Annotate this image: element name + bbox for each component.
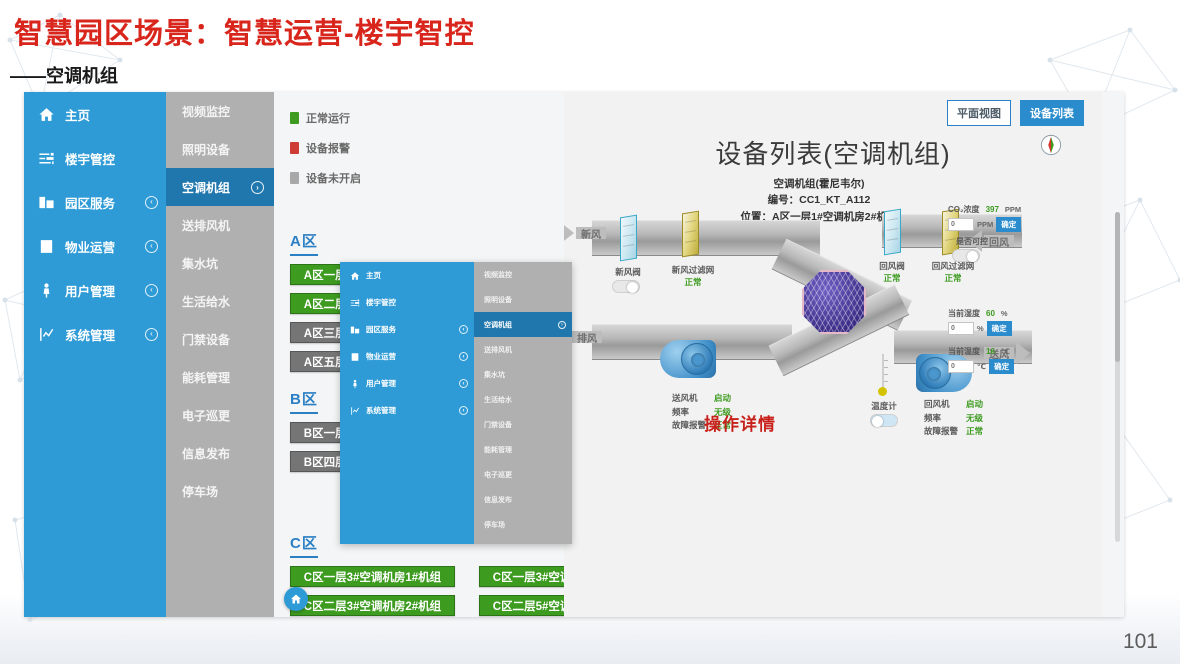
inner-subnav-item-8[interactable]: 电子巡更	[474, 462, 572, 487]
book-icon	[350, 352, 360, 362]
subnav-item-4[interactable]: 集水坑	[166, 244, 274, 282]
temperature-value: 16	[986, 347, 995, 356]
co2-input[interactable]: 0	[948, 218, 974, 231]
arrow-label: 新风	[576, 227, 606, 239]
view-toggle-group: 平面视图 设备列表	[947, 100, 1084, 126]
temperature-input-unit: ℃	[977, 362, 986, 371]
subnav-item-8[interactable]: 电子巡更	[166, 396, 274, 434]
inner-subnav-item-3[interactable]: 送排风机	[474, 337, 572, 362]
chevron-right-icon[interactable]: ›	[251, 181, 264, 194]
status-value: 启动	[966, 398, 983, 412]
device-code: 编号：CC1_KT_A112	[654, 192, 984, 208]
subnav-item-label: 信息发布	[182, 445, 230, 462]
subnav-item-2[interactable]: 空调机组›	[166, 168, 274, 206]
subnav-item-label: 停车场	[182, 483, 218, 500]
fresh-air-filter[interactable]	[682, 211, 699, 258]
inner-sidebar-item-label: 园区服务	[366, 324, 453, 335]
sidebar-item-0[interactable]: 主页	[24, 92, 166, 136]
inner-screenshot-overlay: 主页楼宇管控园区服务‹物业运营‹用户管理‹系统管理‹ 视频监控照明设备空调机组›…	[340, 262, 572, 544]
inner-primary-sidebar: 主页楼宇管控园区服务‹物业运营‹用户管理‹系统管理‹	[340, 262, 474, 544]
status-legend: 正常运行设备报警设备未开启	[290, 110, 361, 200]
humidity-input-unit: %	[977, 324, 984, 333]
inner-subnav-item-label: 信息发布	[484, 495, 512, 505]
subnav-item-label: 照明设备	[182, 141, 230, 158]
home-icon	[290, 593, 302, 605]
zone-title: C区	[290, 532, 318, 558]
sliders-icon	[38, 150, 55, 167]
inner-sidebar-item-4[interactable]: 用户管理‹	[340, 370, 474, 397]
status-label: 故障报警	[924, 425, 958, 439]
inner-subnav-item-label: 照明设备	[484, 295, 512, 305]
sliders-icon	[350, 298, 360, 308]
subnav-item-label: 集水坑	[182, 255, 218, 272]
co2-readout: CO₂浓度 397 PPM	[948, 204, 1021, 215]
controllable-toggle[interactable]	[952, 249, 980, 262]
subnav-item-7[interactable]: 能耗管理	[166, 358, 274, 396]
thermometer-label: 温度计	[864, 400, 904, 412]
humidity-readout: 当前湿度 60 %	[948, 308, 1012, 319]
inner-subnav-item-9[interactable]: 信息发布	[474, 487, 572, 512]
subnav-item-label: 视频监控	[182, 103, 230, 120]
temperature-unit: ℃	[1001, 347, 1010, 356]
chevron-left-icon[interactable]: ‹	[459, 406, 468, 415]
status-label: 频率	[924, 412, 958, 426]
inner-subnav-item-4[interactable]: 集水坑	[474, 362, 572, 387]
status-value: 正常	[966, 425, 983, 439]
humidity-setpoint-row: 0 % 确定	[948, 321, 1012, 336]
chevron-left-icon[interactable]: ‹	[145, 328, 158, 341]
status-label: 频率	[672, 406, 706, 420]
person-icon	[350, 379, 360, 389]
thermometer-tick	[884, 374, 888, 375]
status-label: 送风机	[672, 392, 706, 406]
chevron-left-icon[interactable]: ‹	[145, 284, 158, 297]
inner-subnav-item-2[interactable]: 空调机组›	[474, 312, 572, 337]
fan-hub	[919, 357, 951, 389]
inner-sidebar-item-3[interactable]: 物业运营‹	[340, 343, 474, 370]
inner-subnav-item-0[interactable]: 视频监控	[474, 262, 572, 287]
thermometer-tick	[884, 367, 888, 368]
chart-icon	[38, 326, 55, 343]
co2-input-unit: PPM	[977, 220, 993, 229]
chevron-left-icon[interactable]: ‹	[459, 352, 468, 361]
legend-row-2: 设备未开启	[290, 170, 361, 186]
subnav-item-10[interactable]: 停车场	[166, 472, 274, 510]
subnav-item-label: 送排风机	[182, 217, 230, 234]
thermometer-bulb	[878, 387, 887, 396]
inner-subnav-item-6[interactable]: 门禁设备	[474, 412, 572, 437]
sidebar-item-label: 主页	[65, 105, 158, 124]
sidebar-item-3[interactable]: 物业运营‹	[24, 224, 166, 268]
chart-icon	[350, 406, 360, 416]
sidebar-item-label: 系统管理	[65, 325, 135, 344]
person-icon	[38, 282, 55, 299]
slide-subtitle: ——空调机组	[10, 62, 118, 88]
arrow-label: 排风	[572, 331, 602, 343]
inner-subnav-item-label: 生活给水	[484, 395, 512, 405]
legend-swatch	[290, 172, 299, 184]
inner-subnav-item-label: 停车场	[484, 520, 505, 530]
inner-subnav-item-7[interactable]: 能耗管理	[474, 437, 572, 462]
thermometer-toggle[interactable]	[870, 414, 898, 427]
zone-title: B区	[290, 388, 318, 414]
device-chip[interactable]: C区二层3#空调机房2#机组	[290, 595, 455, 616]
co2-value: 397	[986, 205, 999, 214]
controllable-label: 是否可控	[956, 236, 1021, 247]
thermometer-tick	[884, 360, 888, 361]
application-screenshot: 主页楼宇管控园区服务‹物业运营‹用户管理‹系统管理‹ 视频监控照明设备空调机组›…	[24, 92, 1124, 617]
temperature-control: 当前温度 16 ℃ 0 ℃ 确定	[948, 346, 1014, 374]
status-value: 启动	[714, 392, 731, 406]
device-list-button[interactable]: 设备列表	[1020, 100, 1084, 126]
sidebar-item-1[interactable]: 楼宇管控	[24, 136, 166, 180]
chevron-left-icon[interactable]: ‹	[145, 240, 158, 253]
temperature-setpoint-row: 0 ℃ 确定	[948, 359, 1014, 374]
subnav-item-label: 生活给水	[182, 293, 230, 310]
inner-sidebar-item-label: 物业运营	[366, 351, 453, 362]
building-icon	[38, 194, 55, 211]
status-label: 回风机	[924, 398, 958, 412]
inner-subnav-item-label: 门禁设备	[484, 420, 512, 430]
status-label: 故障报警	[672, 419, 706, 433]
subnav-item-9[interactable]: 信息发布	[166, 434, 274, 472]
legend-swatch	[290, 142, 299, 154]
chevron-left-icon[interactable]: ‹	[459, 325, 468, 334]
vertical-scrollbar[interactable]	[1115, 212, 1120, 542]
inner-sidebar-item-label: 用户管理	[366, 378, 453, 389]
inner-subnav-item-label: 电子巡更	[484, 470, 512, 480]
supply-fan[interactable]	[660, 340, 716, 378]
subnav-item-0[interactable]: 视频监控	[166, 92, 274, 130]
inner-subnav-item-1[interactable]: 照明设备	[474, 287, 572, 312]
chevron-right-icon[interactable]: ›	[558, 321, 566, 329]
home-icon	[350, 271, 360, 281]
arrow-fresh-air: 新风	[564, 222, 606, 244]
return-air-damper[interactable]	[884, 209, 901, 256]
inner-sidebar-item-5[interactable]: 系统管理‹	[340, 397, 474, 424]
humidity-control: 当前湿度 60 % 0 % 确定	[948, 308, 1012, 336]
subnav-item-label: 空调机组	[182, 179, 230, 196]
subnav-item-label: 能耗管理	[182, 369, 230, 386]
fan-hub	[681, 343, 713, 375]
inner-subnav-item-5[interactable]: 生活给水	[474, 387, 572, 412]
co2-control: CO₂浓度 397 PPM 0 PPM 确定 是否可控	[948, 204, 1021, 262]
temperature-confirm-button[interactable]: 确定	[989, 359, 1014, 374]
legend-row-0: 正常运行	[290, 110, 361, 126]
page-number: 101	[1123, 630, 1158, 654]
thermometer-icon	[880, 354, 885, 396]
inner-sidebar-item-0[interactable]: 主页	[340, 262, 474, 289]
inner-sidebar-item-1[interactable]: 楼宇管控	[340, 289, 474, 316]
return-fan-status: 回风机启动频率无级故障报警正常	[924, 398, 983, 439]
zone-title: A区	[290, 230, 318, 256]
status-value: 无级	[966, 412, 983, 426]
inner-sidebar-item-label: 系统管理	[366, 405, 453, 416]
inner-subnav-item-label: 集水坑	[484, 370, 505, 380]
stage-title: 设备列表(空调机组)	[564, 134, 1102, 171]
inner-sidebar-item-2[interactable]: 园区服务‹	[340, 316, 474, 343]
legend-label: 设备未开启	[306, 170, 361, 186]
building-icon	[350, 325, 360, 335]
fresh-air-damper-toggle[interactable]	[612, 280, 640, 293]
thermometer-tick	[884, 381, 888, 382]
operation-detail-annotation: 操作详情	[704, 410, 776, 435]
home-icon	[38, 106, 55, 123]
inner-subnav-item-label: 视频监控	[484, 270, 512, 280]
subnav-item-6[interactable]: 门禁设备	[166, 320, 274, 358]
fresh-air-damper[interactable]	[620, 215, 637, 262]
primary-sidebar: 主页楼宇管控园区服务‹物业运营‹用户管理‹系统管理‹	[24, 92, 166, 617]
inner-subnav-item-label: 送排风机	[484, 345, 512, 355]
sidebar-item-2[interactable]: 园区服务‹	[24, 180, 166, 224]
subnav-item-1[interactable]: 照明设备	[166, 130, 274, 168]
return-air-filter-label: 回风过滤网 正常	[916, 260, 990, 285]
secondary-sidebar: 视频监控照明设备空调机组›送排风机集水坑生活给水门禁设备能耗管理电子巡更信息发布…	[166, 92, 274, 617]
hvac-diagram-stage: 平面视图 设备列表 设备列表(空调机组) 空调机组(霍尼韦尔) 编号：CC1_K…	[564, 92, 1102, 617]
co2-confirm-button[interactable]: 确定	[996, 217, 1021, 232]
co2-label: CO₂浓度	[948, 204, 980, 215]
humidity-unit: %	[1001, 309, 1008, 318]
inner-subnav-item-label: 空调机组	[484, 320, 512, 330]
sidebar-item-5[interactable]: 系统管理‹	[24, 312, 166, 356]
inner-subnav-item-10[interactable]: 停车场	[474, 512, 572, 537]
floating-action-button[interactable]	[284, 587, 308, 611]
temperature-input[interactable]: 0	[948, 360, 974, 373]
legend-row-1: 设备报警	[290, 140, 361, 156]
sidebar-item-4[interactable]: 用户管理‹	[24, 268, 166, 312]
subnav-item-label: 电子巡更	[182, 407, 230, 424]
arrow-head-right	[564, 222, 574, 244]
device-name: 空调机组(霍尼韦尔)	[654, 176, 984, 192]
subnav-item-label: 门禁设备	[182, 331, 230, 348]
humidity-confirm-button[interactable]: 确定	[987, 321, 1012, 336]
arrow-head-right	[1016, 342, 1030, 364]
legend-label: 设备报警	[306, 140, 350, 156]
humidity-value: 60	[986, 309, 995, 318]
sidebar-item-label: 楼宇管控	[65, 149, 158, 168]
return-air-damper-label: 回风阀 正常	[860, 260, 924, 285]
humidity-input[interactable]: 0	[948, 322, 974, 335]
humidity-label: 当前湿度	[948, 308, 980, 319]
sidebar-item-label: 物业运营	[65, 237, 135, 256]
subnav-item-5[interactable]: 生活给水	[166, 282, 274, 320]
device-chip[interactable]: C区一层3#空调机房1#机组	[290, 566, 455, 587]
inner-subnav-item-label: 能耗管理	[484, 445, 512, 455]
slide-title: 智慧园区场景：智慧运营-楼宇智控	[14, 10, 475, 52]
chevron-left-icon[interactable]: ‹	[459, 379, 468, 388]
book-icon	[38, 238, 55, 255]
co2-unit: PPM	[1005, 205, 1021, 214]
legend-label: 正常运行	[306, 110, 350, 126]
co2-setpoint-row: 0 PPM 确定	[948, 217, 1021, 232]
subnav-item-3[interactable]: 送排风机	[166, 206, 274, 244]
fresh-air-damper-label: 新风阀	[598, 266, 658, 278]
inner-sidebar-item-label: 楼宇管控	[366, 297, 468, 308]
temperature-label: 当前温度	[948, 346, 980, 357]
sidebar-item-label: 用户管理	[65, 281, 135, 300]
plan-view-button[interactable]: 平面视图	[947, 100, 1011, 126]
temperature-readout: 当前温度 16 ℃	[948, 346, 1014, 357]
legend-swatch	[290, 112, 299, 124]
inner-sidebar-item-label: 主页	[366, 270, 468, 281]
chevron-left-icon[interactable]: ‹	[145, 196, 158, 209]
sidebar-item-label: 园区服务	[65, 193, 135, 212]
fresh-air-filter-label: 新风过滤网 正常	[654, 264, 732, 289]
inner-secondary-sidebar: 视频监控照明设备空调机组›送排风机集水坑生活给水门禁设备能耗管理电子巡更信息发布…	[474, 262, 572, 544]
